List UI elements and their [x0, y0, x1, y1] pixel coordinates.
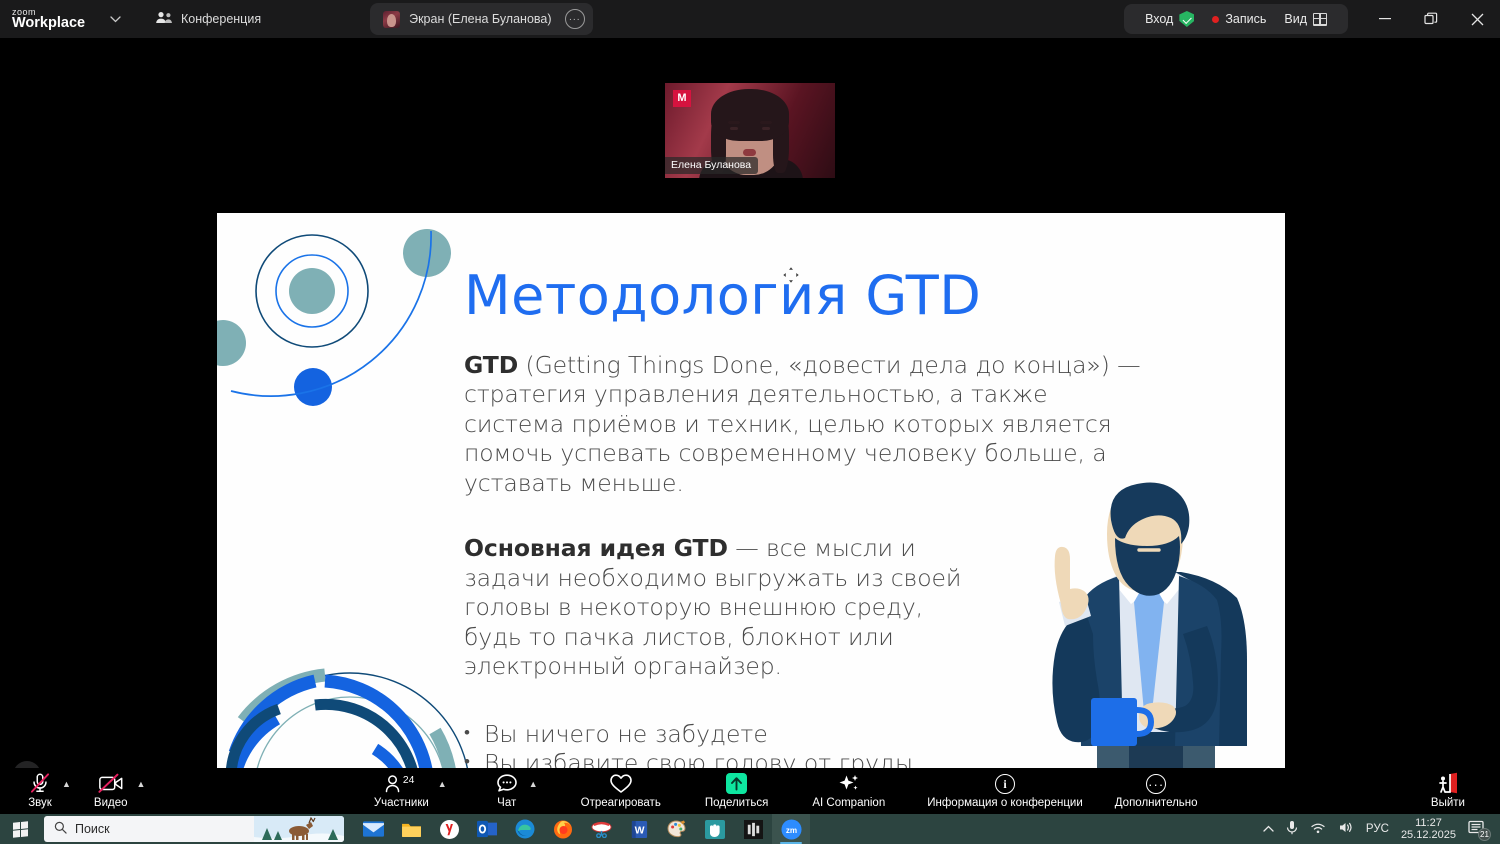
tab-more-icon[interactable]: ···: [565, 9, 585, 29]
taskbar-app-icon-3[interactable]: [734, 814, 772, 844]
sparkle-icon: [837, 773, 861, 794]
taskbar-app-paint[interactable]: [658, 814, 696, 844]
avatar-hair-top: [711, 89, 789, 141]
svg-text:W: W: [634, 825, 644, 836]
status-pill: Вход Запись Вид: [1124, 4, 1348, 34]
more-dots-circle-icon: ···: [1146, 773, 1166, 794]
bullet-marker: •: [464, 720, 470, 750]
paragraph-1-text: (Getting Things Done, «довести дела до к…: [464, 351, 1141, 497]
language-indicator[interactable]: РУС: [1366, 823, 1389, 835]
tab-screen-share-label: Экран (Елена Буланова): [409, 12, 551, 26]
avatar-eye-right: [762, 127, 770, 130]
tab-conference[interactable]: Конференция: [142, 4, 274, 34]
paragraph-2-bold: Основная идея GTD: [464, 534, 728, 562]
audio-button[interactable]: Звук: [18, 768, 62, 814]
login-label: Вход: [1145, 12, 1173, 26]
clock-date: 25.12.2025: [1401, 829, 1456, 841]
notification-badge: 21: [1478, 828, 1491, 841]
meeting-toolbar: Звук ▲ Видео ▲: [0, 768, 1500, 814]
slide-content: Методология GTD GTD (Getting Things Done…: [464, 268, 1154, 806]
slide-title: Методология GTD: [464, 268, 1154, 325]
record-label: Запись: [1225, 12, 1266, 26]
svg-text:24: 24: [403, 775, 415, 786]
meeting-info-button[interactable]: i Информация о конференции: [918, 768, 1092, 814]
chat-button[interactable]: Чат: [485, 768, 529, 814]
close-button[interactable]: [1454, 0, 1500, 38]
windows-taskbar: Поиск: [0, 814, 1500, 844]
svg-text:zm: zm: [785, 825, 796, 834]
bullet-text: Вы ничего не забудете: [484, 720, 768, 750]
chat-control-group: Чат ▲: [485, 768, 542, 814]
microphone-muted-icon: [29, 773, 51, 794]
minimize-button[interactable]: [1362, 0, 1408, 38]
chat-bubble-icon: [496, 773, 518, 794]
people-icon: 24: [385, 773, 417, 794]
taskbar-app-yandex[interactable]: [430, 814, 468, 844]
exit-door-icon: [1436, 773, 1460, 794]
shield-check-icon: [1179, 11, 1194, 27]
video-control-group: Видео ▲: [85, 768, 150, 814]
shared-slide-frame: Методология GTD GTD (Getting Things Done…: [209, 184, 1286, 806]
list-item: • Вы ничего не забудете: [464, 720, 984, 750]
people-icon: [155, 11, 173, 27]
camera-muted-icon: [98, 773, 124, 794]
wifi-icon[interactable]: [1310, 821, 1326, 837]
video-button[interactable]: Видео: [85, 768, 137, 814]
share-screen-button[interactable]: Поделиться: [696, 768, 778, 814]
meeting-info-label: Информация о конференции: [927, 797, 1083, 809]
participant-video-tile[interactable]: M Елена Буланова: [665, 83, 835, 178]
video-options-caret-icon[interactable]: ▲: [137, 779, 150, 803]
notification-center-button[interactable]: 21: [1468, 820, 1488, 838]
participants-options-caret-icon[interactable]: ▲: [438, 779, 451, 803]
brand-line-2: Workplace: [12, 16, 92, 31]
ai-companion-label: AI Companion: [812, 797, 885, 809]
grid-icon: [1313, 13, 1327, 26]
chat-options-caret-icon[interactable]: ▲: [529, 779, 542, 803]
record-dot-icon: [1212, 16, 1219, 23]
taskbar-app-explorer[interactable]: [392, 814, 430, 844]
taskbar-app-icon-2[interactable]: [696, 814, 734, 844]
ai-companion-button[interactable]: AI Companion: [803, 768, 894, 814]
more-options-button[interactable]: ··· Дополнительно: [1106, 768, 1207, 814]
login-status[interactable]: Вход: [1136, 11, 1203, 27]
video-thumb-icon: [383, 11, 400, 28]
audio-control-group: Звук ▲: [18, 768, 75, 814]
leave-meeting-button[interactable]: Выйти: [1422, 768, 1474, 814]
taskbar-app-mail[interactable]: [354, 814, 392, 844]
reactions-label: Отреагировать: [581, 797, 661, 809]
participants-label: Участники: [374, 797, 429, 809]
taskbar-app-firefox[interactable]: [544, 814, 582, 844]
show-hidden-icons-button[interactable]: [1263, 823, 1274, 835]
shared-screen-stage: M Елена Буланова: [0, 38, 1500, 768]
maximize-button[interactable]: [1408, 0, 1454, 38]
video-label: Видео: [94, 797, 128, 809]
recording-status[interactable]: Запись: [1203, 12, 1275, 26]
winter-deer-illustration: [254, 816, 344, 842]
speaker-icon[interactable]: [1338, 821, 1354, 837]
view-selector[interactable]: Вид: [1275, 12, 1336, 26]
audio-label: Звук: [28, 797, 52, 809]
move-cursor: [783, 267, 799, 283]
title-bar: zoom Workplace Конференция Экран (Елена …: [0, 0, 1500, 38]
avatar-eye-left: [730, 127, 738, 130]
zoom-brand-logo: zoom Workplace: [12, 8, 92, 31]
taskbar-app-edge[interactable]: [506, 814, 544, 844]
zoom-app-window: zoom Workplace Конференция Экран (Елена …: [0, 0, 1500, 844]
presentation-slide[interactable]: Методология GTD GTD (Getting Things Done…: [217, 213, 1285, 806]
info-circle-icon: i: [995, 773, 1015, 794]
avatar-mouth: [743, 149, 756, 156]
taskbar-app-word[interactable]: W: [620, 814, 658, 844]
windows-logo-icon: [13, 821, 28, 838]
slide-paragraph-1: GTD (Getting Things Done, «довести дела …: [464, 351, 1154, 498]
clock[interactable]: 11:27 25.12.2025: [1401, 817, 1456, 842]
participant-name-label: Елена Буланова: [665, 157, 758, 174]
taskbar-app-icon-1[interactable]: [582, 814, 620, 844]
chevron-down-icon[interactable]: [102, 6, 128, 32]
search-input[interactable]: Поиск: [44, 816, 344, 842]
search-placeholder: Поиск: [75, 822, 110, 836]
reactions-button[interactable]: Отреагировать: [572, 768, 670, 814]
start-button[interactable]: [0, 814, 40, 844]
leave-meeting-label: Выйти: [1431, 797, 1465, 809]
tab-screen-share[interactable]: Экран (Елена Буланова) ···: [370, 3, 592, 35]
avatar-brow-right: [760, 121, 772, 124]
microphone-icon[interactable]: [1286, 820, 1298, 838]
participants-button[interactable]: 24 Участники: [365, 768, 438, 814]
chat-label: Чат: [497, 797, 516, 809]
taskbar-app-list: W zm: [354, 814, 810, 844]
corner-logo-icon: M: [673, 90, 691, 107]
tab-conference-label: Конференция: [181, 12, 261, 26]
share-screen-label: Поделиться: [705, 797, 769, 809]
view-label: Вид: [1284, 12, 1307, 26]
taskbar-app-zoom[interactable]: zm: [772, 814, 810, 844]
clock-time: 11:27: [1401, 817, 1456, 829]
audio-options-caret-icon[interactable]: ▲: [62, 779, 75, 803]
participants-control-group: 24 Участники ▲: [365, 768, 451, 814]
share-up-arrow-icon: [726, 773, 747, 794]
system-tray: РУС 11:27 25.12.2025 21: [1257, 814, 1500, 844]
heart-icon: [609, 773, 633, 794]
avatar-brow-left: [728, 121, 740, 124]
slide-paragraph-2: Основная идея GTD — все мысли и задачи н…: [464, 534, 984, 681]
titlebar-right-controls: Вход Запись Вид: [1124, 0, 1500, 38]
more-options-label: Дополнительно: [1115, 797, 1198, 809]
paragraph-1-bold: GTD: [464, 351, 518, 379]
taskbar-app-outlook[interactable]: [468, 814, 506, 844]
search-icon: [54, 821, 67, 837]
